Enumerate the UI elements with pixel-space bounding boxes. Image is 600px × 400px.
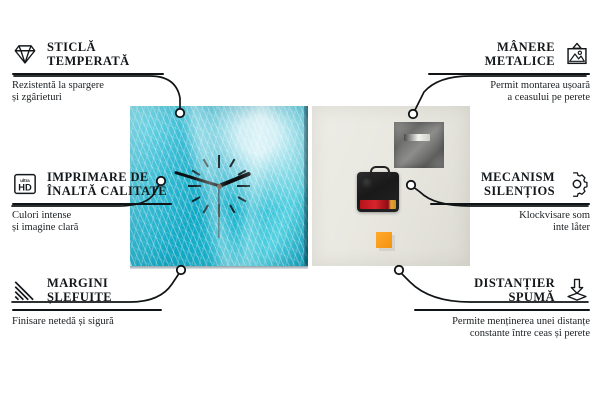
diamond-icon: [12, 41, 38, 67]
hatched-edge-icon: [12, 277, 38, 303]
feature-silent-mechanism: MECANISM SILENȚIOS Klockvisare som inte …: [422, 170, 590, 234]
wire-endpoint-tempered-glass: [176, 109, 184, 117]
gear-icon: [564, 171, 590, 197]
feature-divider: [414, 309, 590, 311]
ultra-hd-icon-large-label: HD: [18, 183, 32, 193]
wire-endpoint-foam-spacer: [395, 266, 403, 274]
feature-divider: [12, 203, 172, 205]
feature-polished-edges: MARGINI ȘLEFUITE Finisare netedă și sigu…: [12, 276, 170, 328]
wire-endpoint-polished-edges: [177, 266, 185, 274]
feature-desc-line1: Permite menținerea unei distanțe: [406, 316, 590, 328]
down-arrow-stack-icon: [564, 277, 590, 303]
feature-title-line1: IMPRIMARE DE: [47, 170, 167, 184]
feature-divider: [430, 203, 590, 205]
feature-tempered-glass: STICLĂ TEMPERATĂ Rezistentă la spargere …: [12, 40, 172, 104]
feature-desc-line1: Rezistentă la spargere: [12, 80, 172, 92]
ultra-hd-icon: ultra HD: [12, 171, 38, 197]
feature-title-line1: MÂNERE: [485, 40, 555, 54]
feature-desc-line1: Culori intense: [12, 210, 180, 222]
feature-desc-line2: și zgârieturi: [12, 92, 172, 104]
infographic-canvas: STICLĂ TEMPERATĂ Rezistentă la spargere …: [0, 0, 600, 400]
feature-title-line1: MECANISM: [481, 170, 555, 184]
feature-desc-line2: inte låter: [422, 222, 590, 234]
feature-title-line1: STICLĂ: [47, 40, 130, 54]
feature-desc-line1: Finisare netedă și sigură: [12, 316, 170, 328]
feature-high-quality-print: ultra HD IMPRIMARE DE ÎNALTĂ CALITATE Cu…: [12, 170, 180, 234]
wire-endpoint-metal-handles: [409, 110, 417, 118]
feature-title-line2: SPUMĂ: [474, 290, 555, 304]
feature-title-line2: METALICE: [485, 54, 555, 68]
feature-divider: [428, 73, 590, 75]
feature-title-line2: ȘLEFUITE: [47, 290, 112, 304]
feature-desc-line1: Klockvisare som: [422, 210, 590, 222]
feature-title-line2: ÎNALTĂ CALITATE: [47, 184, 167, 198]
wire-endpoint-silent-mechanism: [407, 181, 415, 189]
feature-title-line1: DISTANȚIER: [474, 276, 555, 290]
feature-desc-line2: constante între ceas și perete: [406, 328, 590, 340]
feature-foam-spacer: DISTANȚIER SPUMĂ Permite menținerea unei…: [406, 276, 590, 340]
feature-desc-line2: a ceasului pe perete: [420, 92, 590, 104]
feature-desc-line2: și imagine clară: [12, 222, 180, 234]
feature-title-line2: TEMPERATĂ: [47, 54, 130, 68]
picture-frame-hanger-icon: [564, 41, 590, 67]
feature-title-line2: SILENȚIOS: [481, 184, 555, 198]
feature-divider: [12, 309, 162, 311]
feature-divider: [12, 73, 164, 75]
feature-title-line1: MARGINI: [47, 276, 112, 290]
feature-metal-handles: MÂNERE METALICE Permit montarea ușoară a…: [420, 40, 590, 104]
feature-desc-line1: Permit montarea ușoară: [420, 80, 590, 92]
